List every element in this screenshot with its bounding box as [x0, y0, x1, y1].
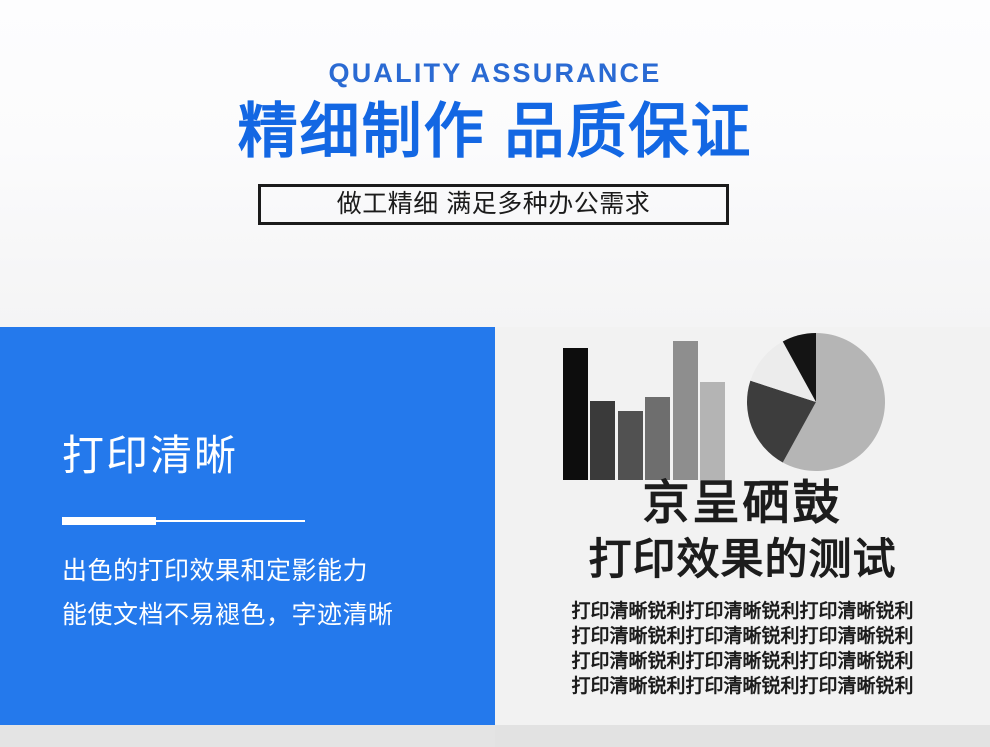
pie-chart — [746, 332, 886, 472]
hero-badge-box: 做工精细 满足多种办公需求 — [258, 184, 729, 225]
bar-chart — [563, 332, 725, 480]
bar-chart-bar — [590, 401, 615, 480]
bottom-strip-left-segment — [0, 725, 495, 747]
left-feature-panel: 打印清晰 出色的打印效果和定影能力 能使文档不易褪色，字迹清晰 — [0, 327, 495, 725]
hero-eyebrow-text: QUALITY ASSURANCE — [0, 58, 990, 89]
print-sample-line: 打印清晰锐利打印清晰锐利打印清晰锐利 — [495, 599, 990, 624]
bar-chart-bar — [645, 397, 670, 480]
bar-chart-bar — [618, 411, 643, 480]
promo-page: QUALITY ASSURANCE 精细制作 品质保证 做工精细 满足多种办公需… — [0, 0, 990, 747]
charts-illustration — [495, 327, 990, 485]
page-title: 精细制作 品质保证 — [0, 97, 990, 167]
pie-chart-svg — [746, 332, 886, 472]
hero-banner: QUALITY ASSURANCE 精细制作 品质保证 做工精细 满足多种办公需… — [0, 0, 990, 327]
bar-chart-bar — [563, 348, 588, 480]
left-panel-description-line-1: 出色的打印效果和定影能力 — [62, 549, 462, 593]
print-sample-line: 打印清晰锐利打印清晰锐利打印清晰锐利 — [495, 674, 990, 699]
right-feature-panel: 京呈硒鼓 打印效果的测试 打印清晰锐利打印清晰锐利打印清晰锐利打印清晰锐利打印清… — [495, 327, 990, 725]
left-panel-description-line-2: 能使文档不易褪色，字迹清晰 — [62, 593, 462, 637]
right-panel-subtitle: 打印效果的测试 — [495, 539, 990, 582]
title-divider — [62, 517, 305, 525]
right-panel-title: 京呈硒鼓 — [495, 479, 990, 526]
print-sample-text-block: 打印清晰锐利打印清晰锐利打印清晰锐利打印清晰锐利打印清晰锐利打印清晰锐利打印清晰… — [495, 599, 990, 699]
divider-thick-segment — [62, 517, 156, 525]
hero-badge-text: 做工精细 满足多种办公需求 — [337, 192, 650, 217]
left-panel-description: 出色的打印效果和定影能力 能使文档不易褪色，字迹清晰 — [62, 549, 462, 637]
feature-section: 打印清晰 出色的打印效果和定影能力 能使文档不易褪色，字迹清晰 — [0, 327, 990, 725]
print-sample-line: 打印清晰锐利打印清晰锐利打印清晰锐利 — [495, 649, 990, 674]
divider-thin-segment — [156, 520, 305, 522]
bar-chart-bar — [673, 341, 698, 480]
left-panel-title: 打印清晰 — [62, 435, 238, 477]
print-sample-line: 打印清晰锐利打印清晰锐利打印清晰锐利 — [495, 624, 990, 649]
bar-chart-bar — [700, 382, 725, 480]
bottom-strip — [0, 725, 990, 747]
